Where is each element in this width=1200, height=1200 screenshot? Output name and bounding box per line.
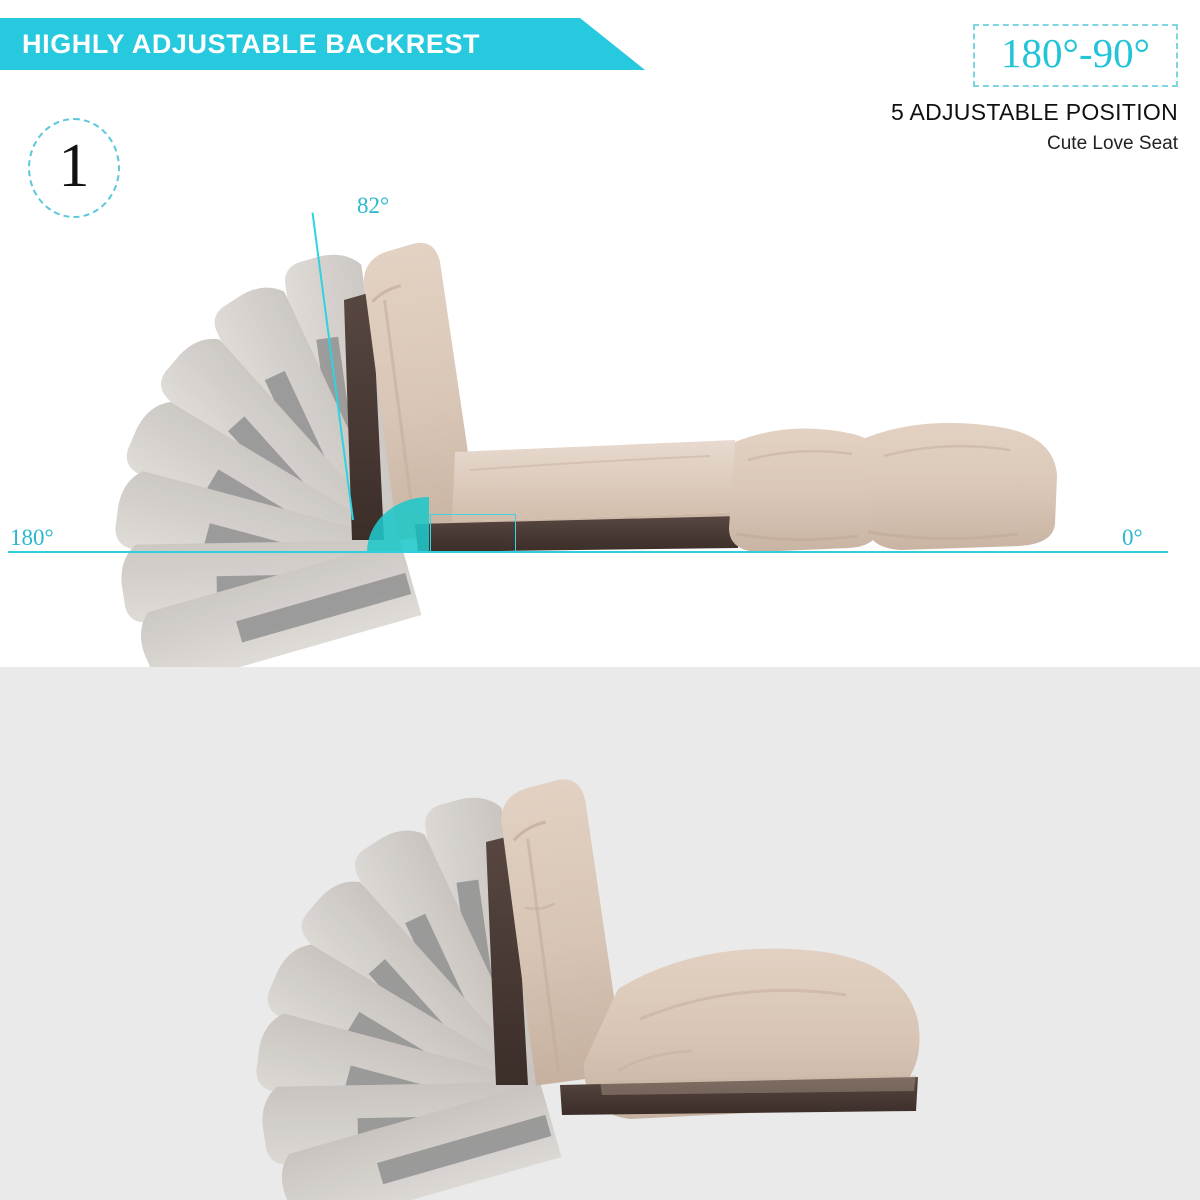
header-banner-label: HIGHLY ADJUSTABLE BACKREST (0, 29, 480, 60)
angle-label-180-1: 180° (10, 526, 54, 549)
pillow-right (865, 423, 1057, 550)
hinge-angle-marker-1 (430, 514, 516, 552)
pillow-left (729, 429, 883, 552)
header-banner: HIGHLY ADJUSTABLE BACKREST (0, 18, 648, 70)
step-badge-1: 1 (28, 118, 120, 218)
angle-label-82-1: 82° (357, 194, 389, 217)
angle-range-box-1: 180°-90° (973, 24, 1178, 87)
info-block-1: 180°-90° 5 ADJUSTABLE POSITION Cute Love… (798, 24, 1178, 155)
angle-label-0-1: 0° (1122, 526, 1143, 549)
baseline-1 (8, 551, 1168, 553)
panel-strong-frame: 2 180°-90° STRONG METAR FRAME Thick Cush… (0, 667, 1200, 1200)
step-number-1: 1 (59, 135, 90, 197)
info-subtitle-1: Cute Love Seat (798, 133, 1178, 155)
info-title-1: 5 ADJUSTABLE POSITION (798, 99, 1178, 126)
lounger-illustration-upright (0, 667, 1200, 1200)
panel-adjustable-backrest: HIGHLY ADJUSTABLE BACKREST 1 180°-90° 5 … (0, 0, 1200, 667)
angle-range-label-1: 180°-90° (1001, 32, 1150, 75)
